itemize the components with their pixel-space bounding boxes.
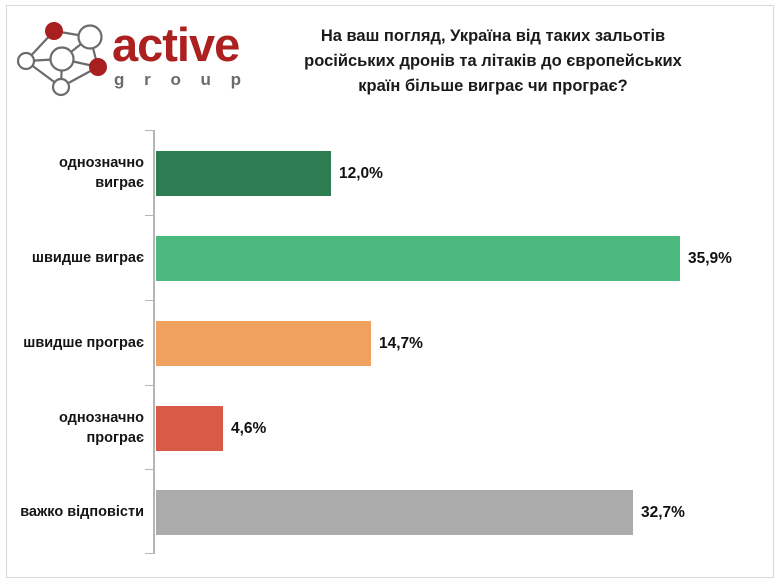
bar-value-label-1: 35,9% bbox=[688, 236, 732, 281]
bar-value-label-0: 12,0% bbox=[339, 151, 383, 196]
chart-page: active g r o u p На ваш погляд, Україна … bbox=[0, 0, 780, 585]
bar-value-label-3: 4,6% bbox=[231, 406, 266, 451]
category-label-3-line-2: програє bbox=[59, 428, 144, 448]
bar-chart-plot: однозначно виграє 12,0% швидше виграє 35… bbox=[0, 0, 780, 585]
category-label-1: швидше виграє bbox=[14, 215, 144, 300]
bar-0[interactable] bbox=[156, 151, 331, 196]
axis-tick bbox=[145, 215, 154, 216]
category-label-3-line-1: однозначно bbox=[59, 408, 144, 428]
axis-tick bbox=[145, 300, 154, 301]
axis-tick bbox=[145, 469, 154, 470]
bar-4[interactable] bbox=[156, 490, 633, 535]
category-label-2: швидше програє bbox=[14, 300, 144, 385]
category-label-0-line-1: однозначно bbox=[59, 153, 144, 173]
bar-3[interactable] bbox=[156, 406, 223, 451]
axis-tick bbox=[145, 130, 154, 131]
category-label-0-line-2: виграє bbox=[59, 173, 144, 193]
bar-value-label-2: 14,7% bbox=[379, 321, 423, 366]
axis-tick bbox=[145, 553, 154, 554]
category-axis-line bbox=[153, 130, 155, 554]
category-label-0: однозначно виграє bbox=[14, 130, 144, 215]
category-label-4: важко відповісти bbox=[14, 469, 144, 554]
category-label-2-line-1: швидше програє bbox=[23, 333, 144, 353]
bar-2[interactable] bbox=[156, 321, 371, 366]
bar-value-label-4: 32,7% bbox=[641, 490, 685, 535]
bar-1[interactable] bbox=[156, 236, 680, 281]
category-label-3: однозначно програє bbox=[14, 385, 144, 470]
axis-tick bbox=[145, 385, 154, 386]
category-label-4-line-1: важко відповісти bbox=[20, 502, 144, 522]
category-label-1-line-1: швидше виграє bbox=[32, 248, 144, 268]
